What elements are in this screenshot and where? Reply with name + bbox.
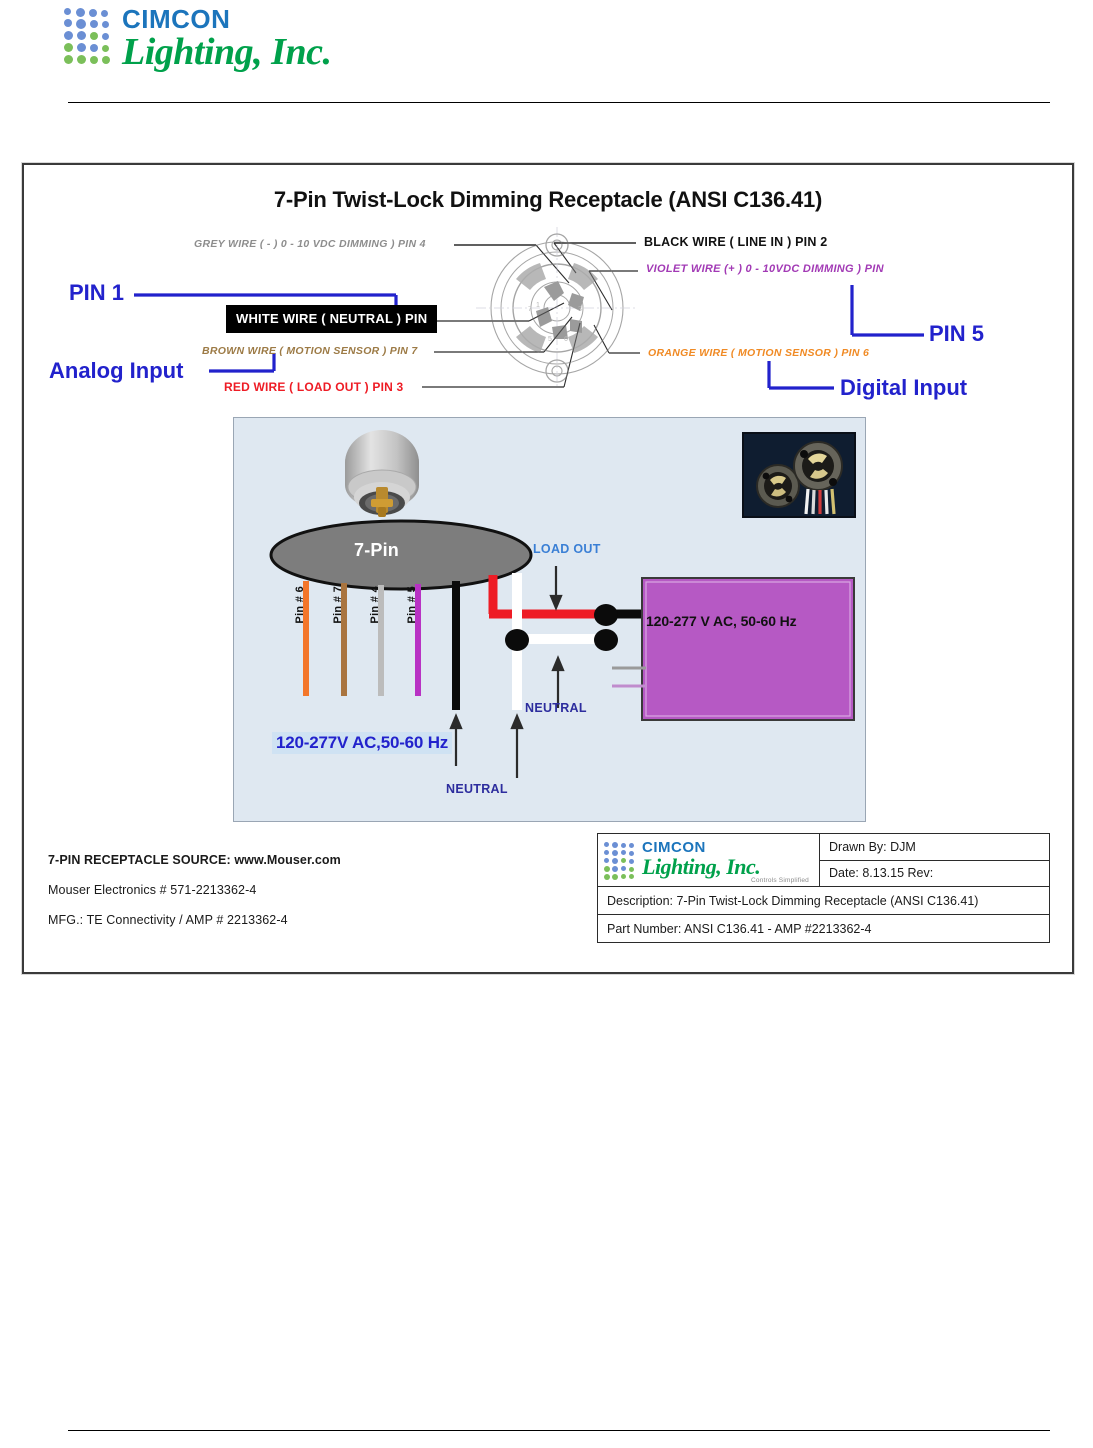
label-load-out: LOAD OUT [533, 542, 601, 556]
label-driver-voltage: 120-277 V AC, 50-60 Hz [646, 613, 797, 629]
title-block-meta-column: Drawn By: DJM Date: 8.13.15 Rev: [820, 834, 1049, 886]
header-divider-rule [68, 102, 1050, 103]
svg-text:3: 3 [578, 306, 582, 313]
svg-text:1: 1 [536, 302, 540, 309]
svg-text:5: 5 [548, 336, 552, 343]
callout-white-wire: WHITE WIRE ( NEUTRAL ) PIN [226, 305, 437, 333]
receptacle-oval-label: 7-Pin [354, 540, 399, 561]
callout-grey-wire: GREY WIRE ( - ) 0 - 10 VDC DIMMING ) PIN… [194, 238, 426, 250]
callout-orange-wire: ORANGE WIRE ( MOTION SENSOR ) PIN 6 [648, 347, 869, 359]
logo-cimcon-text-small: CIMCON [642, 840, 760, 855]
callout-black-wire: BLACK WIRE ( LINE IN ) PIN 2 [644, 235, 827, 249]
label-neutral-bottom: NEUTRAL [446, 782, 508, 796]
title-block-top-row: CIMCON Lighting, Inc. Controls Simplifie… [598, 834, 1049, 887]
title-block-part-row: Part Number: ANSI C136.41 - AMP #2213362… [598, 915, 1049, 942]
logo-lighting-text: Lighting, Inc. [122, 33, 331, 71]
logo-dot-matrix-icon [64, 8, 116, 70]
wire-label-pin-7: Pin # 7 [332, 586, 344, 624]
engineering-drawing-frame: 7-Pin Twist-Lock Dimming Receptacle (ANS… [22, 163, 1074, 974]
logo-dot-matrix-icon-small [604, 842, 638, 880]
document-header: CIMCON Lighting, Inc. [0, 0, 1093, 100]
cimcon-logo-small: CIMCON Lighting, Inc. [604, 840, 760, 880]
pin-callout-region: 71 35 6 GREY WIRE ( - ) 0 - 10 VDC DIMMI… [24, 225, 1072, 410]
title-block-part-number: Part Number: ANSI C136.41 - AMP #2213362… [598, 915, 872, 942]
photocell-cap-image [327, 425, 437, 535]
callout-pin-5: PIN 5 [929, 321, 984, 347]
callout-red-wire: RED WIRE ( LOAD OUT ) PIN 3 [224, 380, 403, 394]
callout-analog-input: Analog Input [49, 358, 183, 384]
note-receptacle-source: 7-PIN RECEPTACLE SOURCE: www.Mouser.com [48, 853, 528, 867]
cimcon-logo: CIMCON Lighting, Inc. [64, 6, 331, 71]
logo-wordmark-small: CIMCON Lighting, Inc. [642, 840, 760, 878]
label-neutral-middle: NEUTRAL [525, 701, 587, 715]
source-notes-block: 7-PIN RECEPTACLE SOURCE: www.Mouser.com … [48, 853, 528, 943]
receptacle-photo-inset [742, 432, 856, 518]
footer-divider-rule [68, 1430, 1050, 1431]
svg-text:7: 7 [528, 306, 532, 313]
wire-label-pin-5: Pin # 5 [406, 586, 418, 624]
receptacle-face-drawing: 71 35 6 [472, 223, 642, 393]
note-mouser-part: Mouser Electronics # 571-2213362-4 [48, 883, 528, 897]
wire-label-pin-6: Pin # 6 [294, 586, 306, 624]
wire-label-pin-4: Pin # 4 [369, 586, 381, 624]
callout-pin-1: PIN 1 [69, 280, 124, 306]
svg-text:6: 6 [564, 336, 568, 343]
callout-violet-wire: VIOLET WIRE (+ ) 0 - 10VDC DIMMING ) PIN [646, 263, 884, 275]
title-block-description-row: Description: 7-Pin Twist-Lock Dimming Re… [598, 887, 1049, 915]
drawing-title-block: CIMCON Lighting, Inc. Controls Simplifie… [597, 833, 1050, 943]
wiring-diagram-panel: 7-Pin Pin # 6 Pin # 7 Pin # 4 Pin # 5 LO… [233, 417, 866, 822]
document-page: CIMCON Lighting, Inc. 7-Pin Twist-Lock D… [0, 0, 1093, 1448]
title-block-logo-cell: CIMCON Lighting, Inc. Controls Simplifie… [598, 834, 820, 886]
label-supply-voltage: 120-277V AC,50-60 Hz [272, 732, 452, 754]
logo-wordmark: CIMCON Lighting, Inc. [122, 6, 331, 71]
title-block-date-rev: Date: 8.13.15 Rev: [820, 861, 1049, 887]
drawing-title: 7-Pin Twist-Lock Dimming Receptacle (ANS… [24, 187, 1072, 213]
callout-brown-wire: BROWN WIRE ( MOTION SENSOR ) PIN 7 [202, 345, 418, 357]
callout-digital-input: Digital Input [840, 375, 967, 401]
title-block-drawn-by: Drawn By: DJM [820, 834, 1049, 861]
logo-tagline: Controls Simplified [751, 877, 809, 884]
title-block-description: Description: 7-Pin Twist-Lock Dimming Re… [598, 887, 978, 914]
note-manufacturer: MFG.: TE Connectivity / AMP # 2213362-4 [48, 913, 528, 927]
logo-lighting-text-small: Lighting, Inc. [642, 856, 760, 878]
logo-cimcon-text: CIMCON [122, 6, 331, 32]
